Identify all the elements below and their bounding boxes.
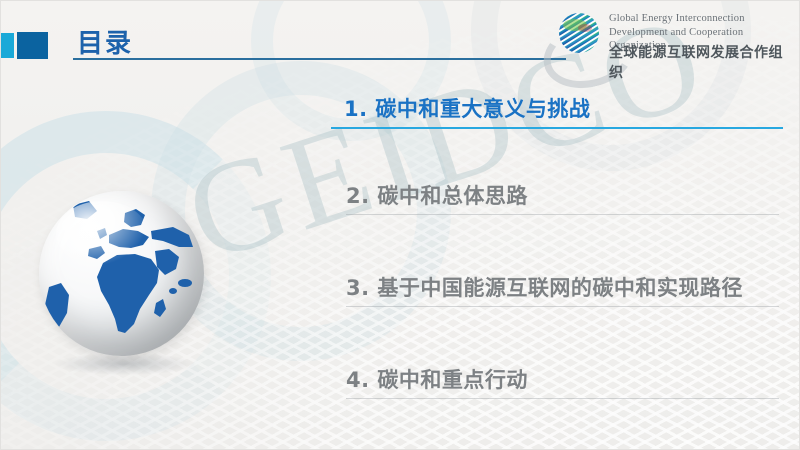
toc-item-1-underline: [331, 127, 783, 129]
toc-item-2[interactable]: 2. 碳中和总体思路: [331, 180, 791, 210]
toc-item-1-label: 1. 碳中和重大意义与挑战: [331, 93, 791, 123]
toc-item-4-label: 4. 碳中和重点行动: [331, 364, 791, 394]
earth-globe-illustration: [39, 191, 219, 381]
table-of-contents: 1. 碳中和重大意义与挑战 2. 碳中和总体思路 3. 基于中国能源互联网的碳中…: [331, 93, 791, 450]
toc-item-4-underline: [346, 398, 779, 399]
globe-highlight: [56, 201, 148, 267]
header-accent-square-dark: [17, 32, 48, 59]
toc-spacer: [331, 123, 791, 180]
logo-english-line-1: Global Energy Interconnection: [609, 12, 799, 26]
toc-spacer: [331, 302, 791, 364]
toc-item-2-label: 2. 碳中和总体思路: [331, 180, 791, 210]
geidco-globe-mark-icon: [557, 11, 601, 55]
toc-item-3-label: 3. 基于中国能源互联网的碳中和实现路径: [331, 272, 791, 302]
toc-item-3-underline: [346, 306, 779, 307]
toc-spacer: [331, 210, 791, 272]
logo-chinese-name: 全球能源互联网发展合作组织: [609, 42, 797, 82]
presentation-slide: GEIDCO 目录: [0, 0, 800, 450]
header-divider: [73, 58, 566, 60]
organization-logo: Global Energy Interconnection Developmen…: [557, 9, 797, 63]
globe-sphere: [39, 191, 204, 356]
toc-item-2-underline: [346, 214, 779, 215]
toc-item-1[interactable]: 1. 碳中和重大意义与挑战: [331, 93, 791, 123]
header-accent-square-light: [0, 33, 14, 58]
globe-drop-shadow: [55, 353, 195, 375]
page-title: 目录: [77, 23, 133, 60]
toc-spacer: [331, 394, 791, 450]
toc-item-4[interactable]: 4. 碳中和重点行动: [331, 364, 791, 394]
toc-item-3[interactable]: 3. 基于中国能源互联网的碳中和实现路径: [331, 272, 791, 302]
